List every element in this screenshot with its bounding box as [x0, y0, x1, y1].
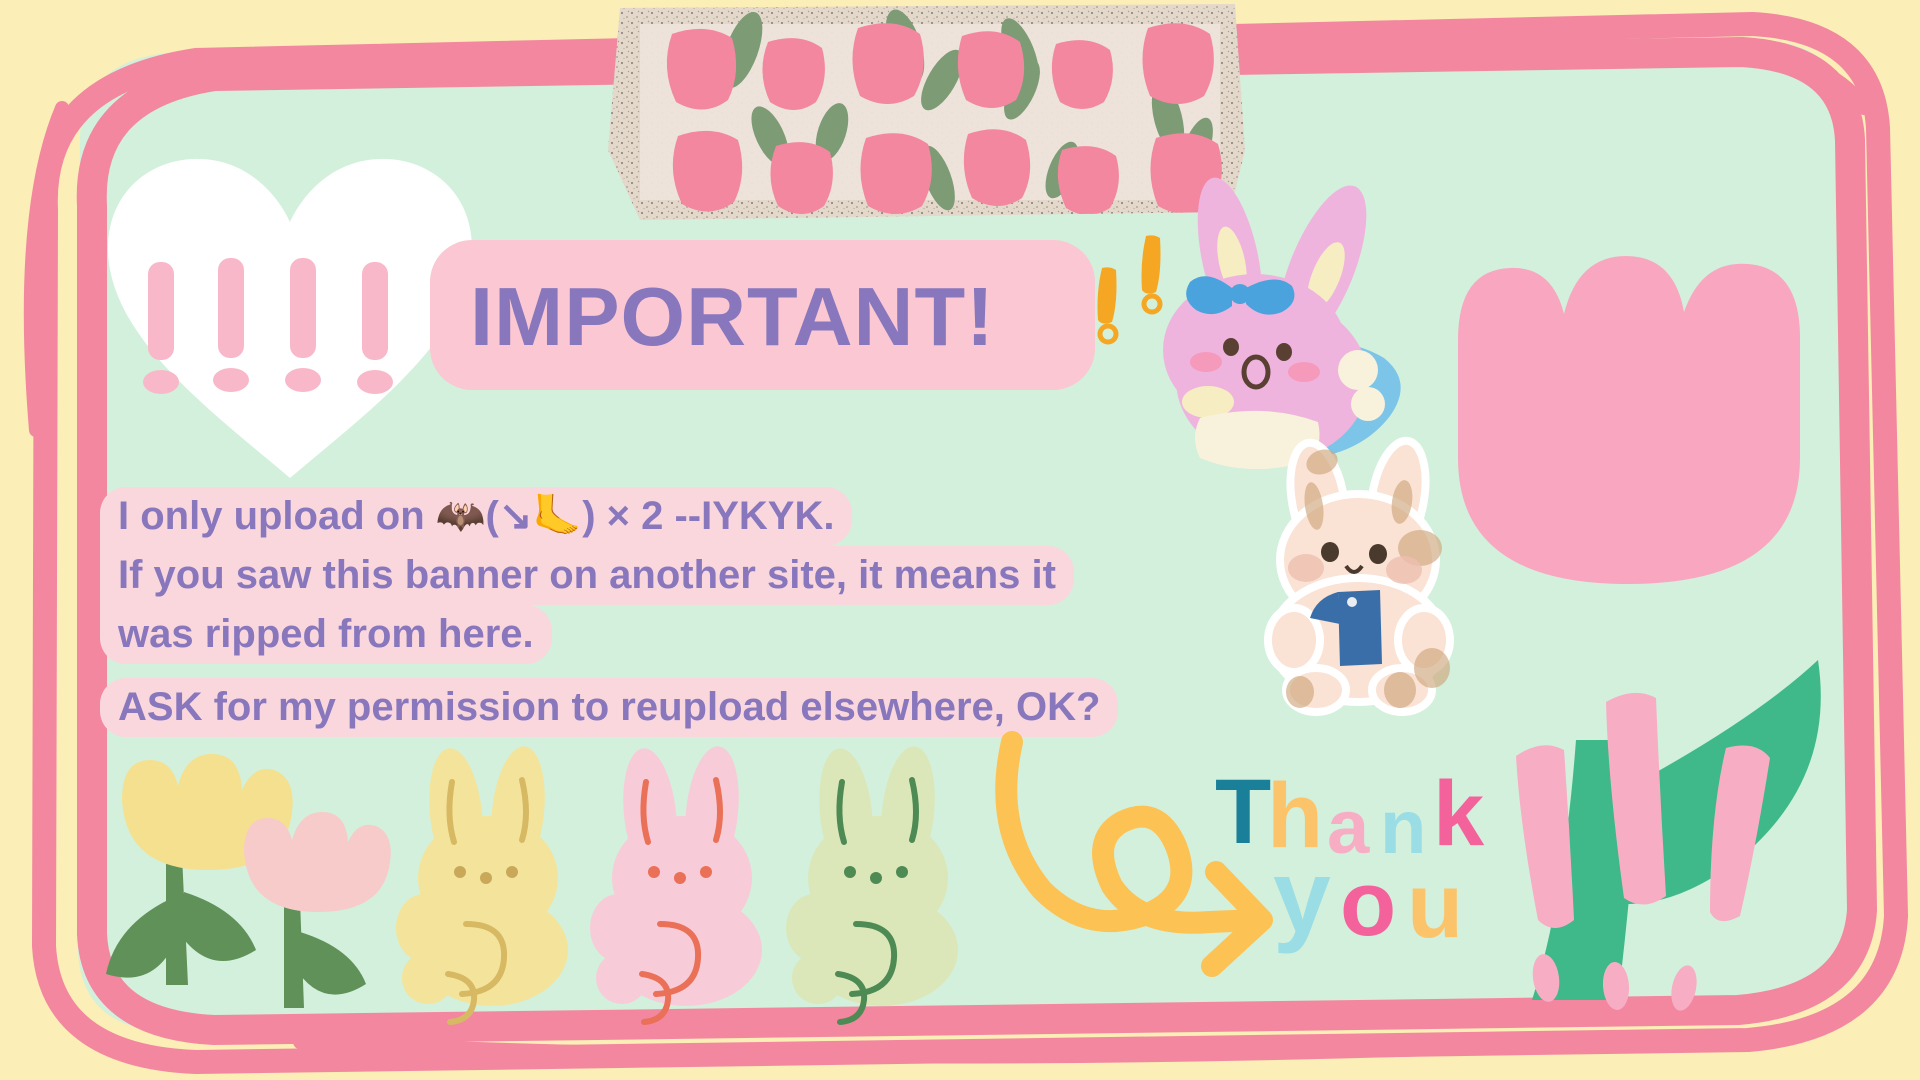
bunny-figure-yellow	[396, 744, 568, 1022]
thank-you-letter-u: u	[1407, 854, 1463, 959]
thank-you-letter-k: k	[1433, 762, 1484, 867]
tulip-small-bloom-pink	[244, 812, 391, 912]
thank-you-letter-y: y	[1273, 838, 1331, 957]
bottom-row-illustrations	[0, 0, 1920, 1080]
banner-canvas: IMPORTANT! I only upload on 🦇(↘🦶) × 2 --…	[0, 0, 1920, 1080]
tulip-small-leaf-pink	[294, 932, 366, 995]
thank-you-letter-o: o	[1340, 852, 1396, 957]
thank-you-lettering: T h a n k y o u	[1215, 760, 1515, 950]
thank-you-letter-T: T	[1215, 760, 1271, 865]
tulips-small	[106, 754, 391, 1008]
bunny-figure-green	[786, 744, 958, 1022]
tulip-small-leaf-yellow-right	[176, 892, 256, 961]
bunny-figure-pink	[590, 744, 762, 1022]
